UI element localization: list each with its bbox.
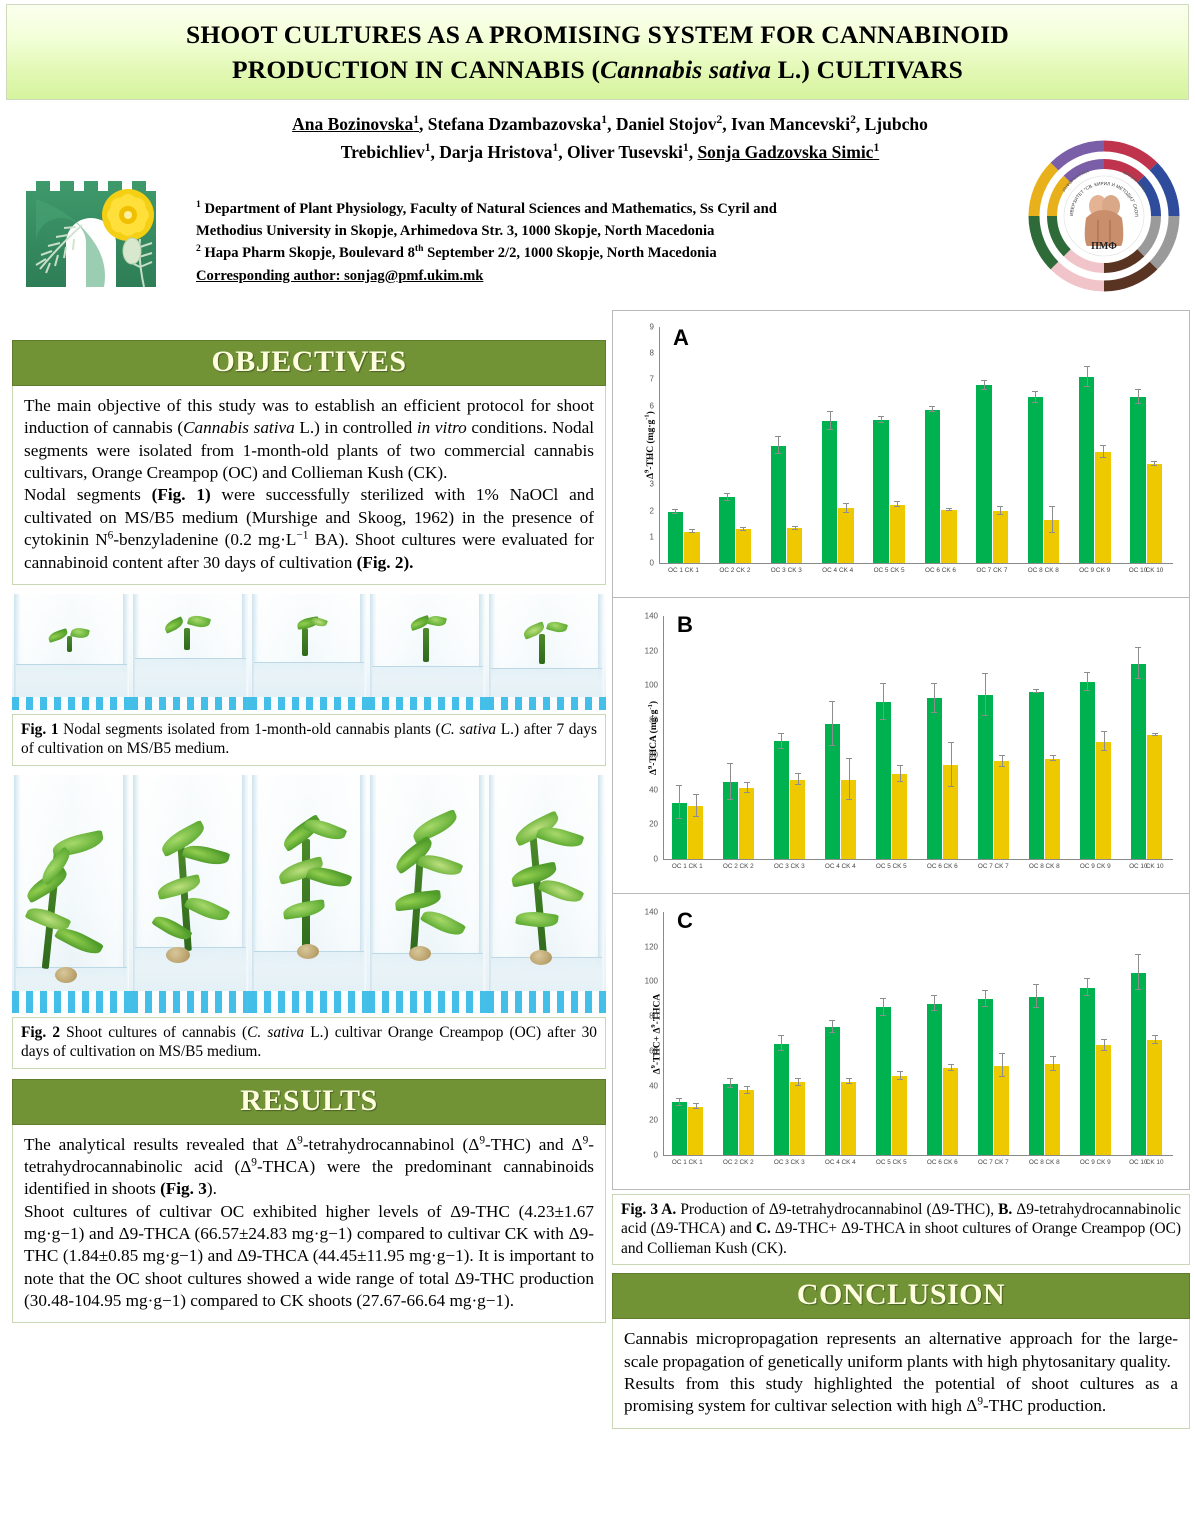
title-post: L.) CULTIVARS xyxy=(771,55,963,84)
error-bar-cap xyxy=(1101,731,1107,732)
error-bar-cap xyxy=(1049,506,1055,507)
y-axis-label-a: Δ9-THC (mg·g-1) xyxy=(646,411,656,479)
error-bar-cap xyxy=(778,748,784,749)
bar-oc-7 xyxy=(978,999,993,1155)
x-tick-label: CK 7 xyxy=(989,567,1012,574)
x-tick-label: CK 7 xyxy=(990,863,1013,870)
y-tick-label: 40 xyxy=(635,785,661,794)
y-tick-label: 120 xyxy=(635,646,661,655)
bar-ck-3 xyxy=(787,528,802,563)
x-axis-line xyxy=(663,1155,1173,1156)
error-bar xyxy=(883,999,884,1016)
bar-ck-8 xyxy=(1045,1064,1060,1155)
error-bar-cap xyxy=(744,792,750,793)
figure-3-caption: Fig. 3 A. Production of Δ9-tetrahydrocan… xyxy=(612,1194,1190,1265)
figure-1-panel xyxy=(250,594,369,710)
error-bar-cap xyxy=(878,422,884,423)
bar-oc-10 xyxy=(1130,397,1145,563)
figure-2-panel xyxy=(250,775,369,1013)
x-tick-label: CK 8 xyxy=(1041,863,1064,870)
error-bar-cap xyxy=(1152,735,1158,736)
error-bar xyxy=(830,412,831,430)
error-bar-cap xyxy=(846,1078,852,1079)
error-bar-cap xyxy=(676,1105,682,1106)
error-bar xyxy=(781,1036,782,1052)
bar-oc-7 xyxy=(976,385,991,563)
bar-ck-5 xyxy=(890,505,905,563)
x-tick-label: CK 10 xyxy=(1143,567,1166,574)
x-tick-label: CK 1 xyxy=(684,1159,707,1166)
bar-ck-2 xyxy=(736,529,751,563)
bar-oc-1 xyxy=(668,512,683,563)
error-bar xyxy=(832,702,833,745)
error-bar-cap xyxy=(1135,403,1141,404)
error-bar-cap xyxy=(948,786,954,787)
y-tick-label: 1 xyxy=(631,532,657,541)
error-bar-cap xyxy=(795,1078,801,1079)
error-bar-cap xyxy=(946,508,952,509)
authors-line-2: Trebichliev1, Darja Hristova1, Oliver Tu… xyxy=(190,138,1030,166)
error-bar-cap xyxy=(727,1078,733,1079)
y-tick-label: 0 xyxy=(635,855,661,864)
x-tick-label: CK 4 xyxy=(834,567,857,574)
x-tick-label: CK 2 xyxy=(732,567,755,574)
error-bar-cap xyxy=(795,1085,801,1086)
error-bar-cap xyxy=(689,532,695,533)
error-bar xyxy=(985,674,986,716)
x-tick-label: CK 5 xyxy=(886,567,909,574)
x-tick-label: CK 5 xyxy=(888,863,911,870)
error-bar-cap xyxy=(1100,457,1106,458)
error-bar-cap xyxy=(846,758,852,759)
y-tick-label: 60 xyxy=(635,750,661,759)
error-bar-cap xyxy=(795,773,801,774)
error-bar-cap xyxy=(897,781,903,782)
authors-line-1: Ana Bozinovska1, Stefana Dzambazovska1, … xyxy=(190,110,1030,138)
error-bar-cap xyxy=(1084,672,1090,673)
error-bar-cap xyxy=(1050,755,1056,756)
error-bar-cap xyxy=(693,794,699,795)
chart-panel-letter-a: A xyxy=(673,325,689,351)
bar-ck-4 xyxy=(841,1082,856,1155)
poster-title-line-2: PRODUCTION IN CANNABIS (Cannabis sativa … xyxy=(232,52,963,87)
error-bar-cap xyxy=(829,701,835,702)
x-tick-label: CK 6 xyxy=(937,567,960,574)
faculty-gate-logo xyxy=(16,163,182,293)
error-bar-cap xyxy=(897,1079,903,1080)
bar-oc-3 xyxy=(771,446,786,563)
bar-oc-8 xyxy=(1028,397,1043,563)
bar-ck-10 xyxy=(1147,735,1162,859)
error-bar-cap xyxy=(843,512,849,513)
error-bar-cap xyxy=(1152,1035,1158,1036)
figure-1-image xyxy=(12,594,606,710)
figure-1-panel xyxy=(368,594,487,710)
y-tick-label: 20 xyxy=(635,820,661,829)
affiliation-1-line-1: 1 Department of Plant Physiology, Facult… xyxy=(196,198,996,220)
y-axis-label-c: Δ9-THC+ Δ9-THCA xyxy=(652,993,662,1074)
bar-ck-9 xyxy=(1096,742,1111,859)
bar-ck-2 xyxy=(739,1090,754,1155)
error-bar-cap xyxy=(1084,995,1090,996)
error-bar-cap xyxy=(1084,978,1090,979)
bar-ck-5 xyxy=(892,1076,907,1155)
x-tick-label: CK 9 xyxy=(1092,863,1115,870)
error-bar-cap xyxy=(931,683,937,684)
error-bar-cap xyxy=(1033,692,1039,693)
error-bar-cap xyxy=(1050,1070,1056,1071)
error-bar-cap xyxy=(1151,461,1157,462)
error-bar-cap xyxy=(880,683,886,684)
author-sonja: Sonja Gadzovska Simic1 xyxy=(697,142,879,162)
author-ljubcho-last: Trebichliev1 xyxy=(341,142,431,162)
chart-panel-a: AΔ9-THC (mg·g-1)0123456789OC 1CK 1OC 2CK… xyxy=(612,310,1190,598)
error-bar-cap xyxy=(744,1086,750,1087)
y-tick-label: 100 xyxy=(635,681,661,690)
bar-ck-7 xyxy=(994,1066,1009,1155)
authors-block: Ana Bozinovska1, Stefana Dzambazovska1, … xyxy=(190,110,1030,167)
bar-oc-10 xyxy=(1131,973,1146,1155)
title-pre: PRODUCTION IN CANNABIS ( xyxy=(232,55,600,84)
y-tick-label: 80 xyxy=(635,716,661,725)
y-tick-label: 9 xyxy=(631,323,657,332)
y-tick-label: 8 xyxy=(631,349,657,358)
x-tick-label: CK 2 xyxy=(735,863,758,870)
error-bar xyxy=(1002,1054,1003,1077)
bar-oc-3 xyxy=(774,1044,789,1155)
error-bar xyxy=(1087,367,1088,387)
error-bar xyxy=(900,766,901,782)
y-tick-label: 0 xyxy=(635,1151,661,1160)
error-bar-cap xyxy=(727,763,733,764)
y-tick-label: 2 xyxy=(631,506,657,515)
bar-oc-9 xyxy=(1080,988,1095,1155)
error-bar xyxy=(1138,648,1139,679)
results-paragraph-1: The analytical results revealed that Δ9-… xyxy=(24,1134,594,1201)
x-tick-label: CK 7 xyxy=(990,1159,1013,1166)
x-tick-label: CK 9 xyxy=(1092,1159,1115,1166)
error-bar-cap xyxy=(1033,689,1039,690)
bar-oc-6 xyxy=(925,410,940,563)
error-bar-cap xyxy=(1101,1039,1107,1040)
error-bar-cap xyxy=(1050,1056,1056,1057)
objectives-paragraph-1: The main objective of this study was to … xyxy=(24,395,594,484)
error-bar xyxy=(1036,985,1037,1008)
error-bar-cap xyxy=(1032,402,1038,403)
results-body: The analytical results revealed that Δ9-… xyxy=(12,1125,606,1324)
y-tick-label: 120 xyxy=(635,942,661,951)
error-bar-cap xyxy=(846,1083,852,1084)
error-bar-cap xyxy=(1033,984,1039,985)
x-tick-label: CK 9 xyxy=(1091,567,1114,574)
bar-oc-8 xyxy=(1029,997,1044,1155)
bar-oc-6 xyxy=(927,698,942,859)
bar-ck-6 xyxy=(943,1068,958,1155)
error-bar-cap xyxy=(981,389,987,390)
y-tick-label: 100 xyxy=(635,977,661,986)
right-column: AΔ9-THC (mg·g-1)0123456789OC 1CK 1OC 2CK… xyxy=(612,310,1190,1429)
x-tick-label: CK 3 xyxy=(783,567,806,574)
error-bar xyxy=(1138,955,1139,990)
results-heading: RESULTS xyxy=(12,1079,606,1125)
bar-oc-5 xyxy=(876,702,891,859)
x-tick-label: CK 2 xyxy=(735,1159,758,1166)
error-bar-cap xyxy=(827,429,833,430)
poster-title-line-1: SHOOT CULTURES AS A PROMISING SYSTEM FOR… xyxy=(186,17,1009,52)
error-bar-cap xyxy=(931,1010,937,1011)
bar-oc-5 xyxy=(876,1007,891,1155)
error-bar-cap xyxy=(999,1053,1005,1054)
error-bar-cap xyxy=(1032,391,1038,392)
author-ana-bozinovska: Ana Bozinovska1 xyxy=(292,114,419,134)
affiliation-1-line-2: Methodius University in Skopje, Arhimedo… xyxy=(196,220,996,242)
author-stefana: , Stefana Dzambazovska1 xyxy=(419,114,607,134)
error-bar-cap xyxy=(1151,465,1157,466)
error-bar-cap xyxy=(981,380,987,381)
error-bar-cap xyxy=(982,715,988,716)
chart-panel-letter-b: B xyxy=(677,612,693,638)
poster-title-band: SHOOT CULTURES AS A PROMISING SYSTEM FOR… xyxy=(6,4,1189,100)
error-bar-cap xyxy=(672,509,678,510)
error-bar-cap xyxy=(1135,954,1141,955)
error-bar xyxy=(1052,507,1053,533)
error-bar-cap xyxy=(929,411,935,412)
y-tick-label: 40 xyxy=(635,1081,661,1090)
y-tick-label: 60 xyxy=(635,1046,661,1055)
conclusion-body: Cannabis micropropagation represents an … xyxy=(612,1319,1190,1428)
error-bar xyxy=(1087,673,1088,690)
x-tick-label: CK 6 xyxy=(939,1159,962,1166)
error-bar xyxy=(1104,732,1105,751)
bar-ck-8 xyxy=(1045,759,1060,859)
error-bar xyxy=(1053,1057,1054,1071)
error-bar-cap xyxy=(997,506,1003,507)
error-bar-cap xyxy=(778,1050,784,1051)
error-bar-cap xyxy=(727,799,733,800)
error-bar-cap xyxy=(843,503,849,504)
bar-ck-7 xyxy=(993,511,1008,563)
error-bar-cap xyxy=(775,436,781,437)
error-bar-cap xyxy=(931,712,937,713)
left-column: OBJECTIVES The main objective of this st… xyxy=(12,340,606,1323)
error-bar xyxy=(1138,390,1139,405)
error-bar-cap xyxy=(676,1098,682,1099)
error-bar-cap xyxy=(689,529,695,530)
x-tick-label: CK 1 xyxy=(684,863,707,870)
error-bar-cap xyxy=(931,995,937,996)
conclusion-section: CONCLUSION Cannabis micropropagation rep… xyxy=(612,1273,1190,1428)
figure-2-panel xyxy=(131,775,250,1013)
bar-ck-9 xyxy=(1096,1045,1111,1155)
error-bar-cap xyxy=(1135,647,1141,648)
error-bar-cap xyxy=(740,527,746,528)
error-bar xyxy=(849,759,850,801)
error-bar-cap xyxy=(948,1064,954,1065)
error-bar-cap xyxy=(948,1070,954,1071)
error-bar-cap xyxy=(982,990,988,991)
bar-oc-2 xyxy=(719,497,734,563)
error-bar-cap xyxy=(897,1071,903,1072)
error-bar-cap xyxy=(982,1006,988,1007)
error-bar xyxy=(934,684,935,714)
y-axis-line xyxy=(663,912,664,1155)
error-bar-cap xyxy=(894,501,900,502)
objectives-paragraph-2: Nodal segments (Fig. 1) were successfull… xyxy=(24,484,594,573)
error-bar-cap xyxy=(778,1035,784,1036)
bar-oc-6 xyxy=(927,1004,942,1155)
y-tick-label: 3 xyxy=(631,480,657,489)
error-bar-cap xyxy=(740,530,746,531)
y-tick-label: 4 xyxy=(631,454,657,463)
bar-ck-3 xyxy=(790,780,805,859)
error-bar xyxy=(778,437,779,454)
error-bar-cap xyxy=(693,816,699,817)
error-bar xyxy=(934,996,935,1012)
bar-oc-9 xyxy=(1079,377,1094,563)
figure-2-panel xyxy=(487,775,606,1013)
y-tick-label: 0 xyxy=(631,559,657,568)
figure-1-panel xyxy=(131,594,250,710)
error-bar xyxy=(730,764,731,800)
x-tick-label: CK 6 xyxy=(939,863,962,870)
author-darja: , Darja Hristova1 xyxy=(430,142,558,162)
affiliation-2: 2 Hapa Pharm Skopje, Boulevard 8th Septe… xyxy=(196,242,996,264)
x-tick-label: CK 4 xyxy=(837,1159,860,1166)
error-bar-cap xyxy=(724,500,730,501)
error-bar-cap xyxy=(1101,750,1107,751)
error-bar-cap xyxy=(1084,690,1090,691)
y-axis-line xyxy=(663,616,664,859)
y-tick-label: 5 xyxy=(631,427,657,436)
bar-oc-8 xyxy=(1029,692,1044,859)
error-bar-cap xyxy=(1152,1043,1158,1044)
bar-ck-1 xyxy=(684,532,699,563)
y-tick-label: 80 xyxy=(635,1012,661,1021)
bar-ck-1 xyxy=(688,1107,703,1155)
error-bar xyxy=(1087,979,1088,996)
bar-ck-6 xyxy=(941,510,956,563)
bar-oc-9 xyxy=(1080,682,1095,859)
author-ljubcho-first: , Ljubcho xyxy=(856,114,928,134)
figure-2-panel xyxy=(12,775,131,1013)
chart-panel-letter-c: C xyxy=(677,908,693,934)
bar-oc-1 xyxy=(672,1102,687,1155)
bar-ck-2 xyxy=(739,788,754,859)
error-bar-cap xyxy=(846,799,852,800)
error-bar xyxy=(985,991,986,1007)
results-paragraph-2: Shoot cultures of cultivar OC exhibited … xyxy=(24,1201,594,1313)
error-bar-cap xyxy=(894,506,900,507)
y-tick-label: 6 xyxy=(631,401,657,410)
x-tick-label: CK 3 xyxy=(786,863,809,870)
error-bar-cap xyxy=(829,745,835,746)
y-axis-line xyxy=(659,327,660,563)
figure-2-image xyxy=(12,775,606,1013)
bar-oc-2 xyxy=(723,1084,738,1156)
bar-ck-9 xyxy=(1095,452,1110,563)
y-tick-label: 20 xyxy=(635,1116,661,1125)
error-bar-cap xyxy=(1100,445,1106,446)
error-bar-cap xyxy=(676,785,682,786)
error-bar-cap xyxy=(744,1093,750,1094)
figure-2-panel xyxy=(368,775,487,1013)
author-daniel: , Daniel Stojov2 xyxy=(607,114,722,134)
error-bar-cap xyxy=(1084,386,1090,387)
title-species-italic: Cannabis sativa xyxy=(600,55,771,84)
corresponding-author-email[interactable]: Corresponding author: sonjag@pmf.ukim.mk xyxy=(196,268,483,285)
error-bar-cap xyxy=(775,453,781,454)
error-bar-cap xyxy=(1033,1007,1039,1008)
y-tick-label: 7 xyxy=(631,375,657,384)
error-bar-cap xyxy=(792,529,798,530)
chart-panel-c: CΔ9-THC+ Δ9-THCA020406080100120140OC 1CK… xyxy=(612,894,1190,1190)
error-bar-cap xyxy=(948,742,954,743)
error-bar-cap xyxy=(880,1015,886,1016)
x-tick-label: CK 5 xyxy=(888,1159,911,1166)
error-bar-cap xyxy=(1084,366,1090,367)
error-bar-cap xyxy=(829,1032,835,1033)
author-ivan: , Ivan Mancevski2 xyxy=(722,114,856,134)
error-bar-cap xyxy=(724,493,730,494)
y-tick-label: 140 xyxy=(635,908,661,917)
error-bar-cap xyxy=(946,510,952,511)
bar-oc-4 xyxy=(822,421,837,563)
bar-oc-3 xyxy=(774,741,789,859)
affiliations-block: 1 Department of Plant Physiology, Facult… xyxy=(196,198,996,285)
x-tick-label: CK 1 xyxy=(680,567,703,574)
x-tick-label: CK 8 xyxy=(1041,1159,1064,1166)
svg-text:ПМФ: ПМФ xyxy=(1091,241,1117,252)
bar-oc-7 xyxy=(978,695,993,859)
error-bar-cap xyxy=(999,1076,1005,1077)
error-bar xyxy=(951,743,952,786)
y-axis-label-b: Δ9-THCA (mg·g-1) xyxy=(649,701,659,775)
bar-ck-5 xyxy=(892,774,907,859)
conclusion-heading: CONCLUSION xyxy=(612,1273,1190,1319)
error-bar-cap xyxy=(827,411,833,412)
x-tick-label: CK 10 xyxy=(1143,1159,1166,1166)
error-bar-cap xyxy=(1135,389,1141,390)
x-tick-label: CK 3 xyxy=(786,1159,809,1166)
error-bar xyxy=(696,795,697,818)
error-bar-cap xyxy=(744,782,750,783)
bar-ck-7 xyxy=(994,761,1009,859)
error-bar-cap xyxy=(672,513,678,514)
conclusion-paragraph-1: Cannabis micropropagation represents an … xyxy=(624,1328,1178,1373)
bar-oc-5 xyxy=(873,420,888,563)
bar-ck-4 xyxy=(838,508,853,563)
error-bar-cap xyxy=(880,998,886,999)
figure-1-panel xyxy=(487,594,606,710)
error-bar-cap xyxy=(792,526,798,527)
y-tick-label: 140 xyxy=(635,612,661,621)
error-bar-cap xyxy=(693,1103,699,1104)
figure-2-caption: Fig. 2 Shoot cultures of cannabis (C. sa… xyxy=(12,1017,606,1069)
error-bar-cap xyxy=(897,765,903,766)
error-bar xyxy=(883,684,884,720)
error-bar-cap xyxy=(727,1087,733,1088)
error-bar-cap xyxy=(1050,760,1056,761)
error-bar-cap xyxy=(982,673,988,674)
x-axis-line xyxy=(663,859,1173,860)
error-bar-cap xyxy=(999,766,1005,767)
error-bar-cap xyxy=(929,406,935,407)
error-bar-cap xyxy=(999,755,1005,756)
error-bar-cap xyxy=(1152,733,1158,734)
error-bar-cap xyxy=(693,1108,699,1109)
error-bar-cap xyxy=(829,1020,835,1021)
objectives-body: The main objective of this study was to … xyxy=(12,386,606,585)
